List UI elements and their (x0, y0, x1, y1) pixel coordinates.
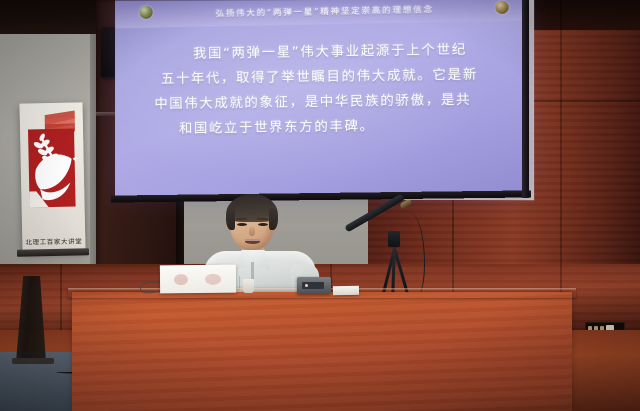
nameplate-mark (205, 274, 221, 285)
poster-stand-base (17, 248, 89, 257)
projection-screen: 弘扬伟大的“两弹一星”精神坚定崇高的理想信念 我国“两弹一星”伟大事业起源于上个… (115, 0, 527, 196)
speaker-nose (249, 227, 255, 236)
speaker-eye-left (237, 223, 247, 226)
audio-recorder[interactable] (297, 277, 331, 294)
event-poster: 北理工百家大讲堂 (19, 102, 85, 251)
water-cup (243, 279, 254, 293)
panel-seam (60, 264, 62, 330)
slide-line-4: 和国屹立于世界东方的丰碑。 (179, 114, 375, 137)
slide-banner-text: 弘扬伟大的“两弹一星”精神坚定崇高的理想信念 (215, 3, 433, 19)
desk-nameplate (160, 265, 236, 294)
recorder-indicator-icon (305, 284, 308, 287)
screen-frame-right (522, 0, 529, 198)
speaker-hair-right (269, 208, 278, 230)
speaker-mouth (245, 239, 260, 244)
left-stand-foot (12, 358, 54, 364)
nameplate-mark (174, 274, 188, 285)
slide-body-text: 我国“两弹一星”伟大事业起源于上个世纪 五十年代，取得了举世瞩目的伟大成就。它是… (115, 37, 527, 138)
microphone-icon (344, 193, 405, 232)
dove-and-olive-branch-icon (25, 108, 80, 219)
slide-banner: 弘扬伟大的“两弹一星”精神坚定崇高的理想信念 (115, 0, 527, 28)
papers (333, 286, 359, 295)
slide-line-2: 五十年代，取得了举世瞩目的伟大成就。它是新 (161, 63, 478, 88)
seal-emblem-icon (495, 1, 509, 14)
poster-caption: 北理工百家大讲堂 (22, 235, 85, 246)
seal-emblem-icon (139, 6, 152, 19)
slide-line-1: 我国“两弹一星”伟大事业起源于上个世纪 (193, 38, 467, 62)
slide-line-3: 中国伟大成就的象征，是中华民族的骄傲，是共 (154, 88, 471, 112)
speaker-hair-left (226, 208, 235, 230)
mic-cable (402, 214, 425, 298)
podium-desk (72, 292, 572, 411)
lecture-hall-photo: 弘扬伟大的“两弹一星”精神坚定崇高的理想信念 我国“两弹一星”伟大事业起源于上个… (0, 0, 640, 411)
speaker-eye-right (258, 223, 268, 226)
shotgun-microphone-on-tripod (342, 196, 442, 296)
mic-mount (388, 231, 400, 247)
poster-artwork-svg (25, 108, 80, 219)
